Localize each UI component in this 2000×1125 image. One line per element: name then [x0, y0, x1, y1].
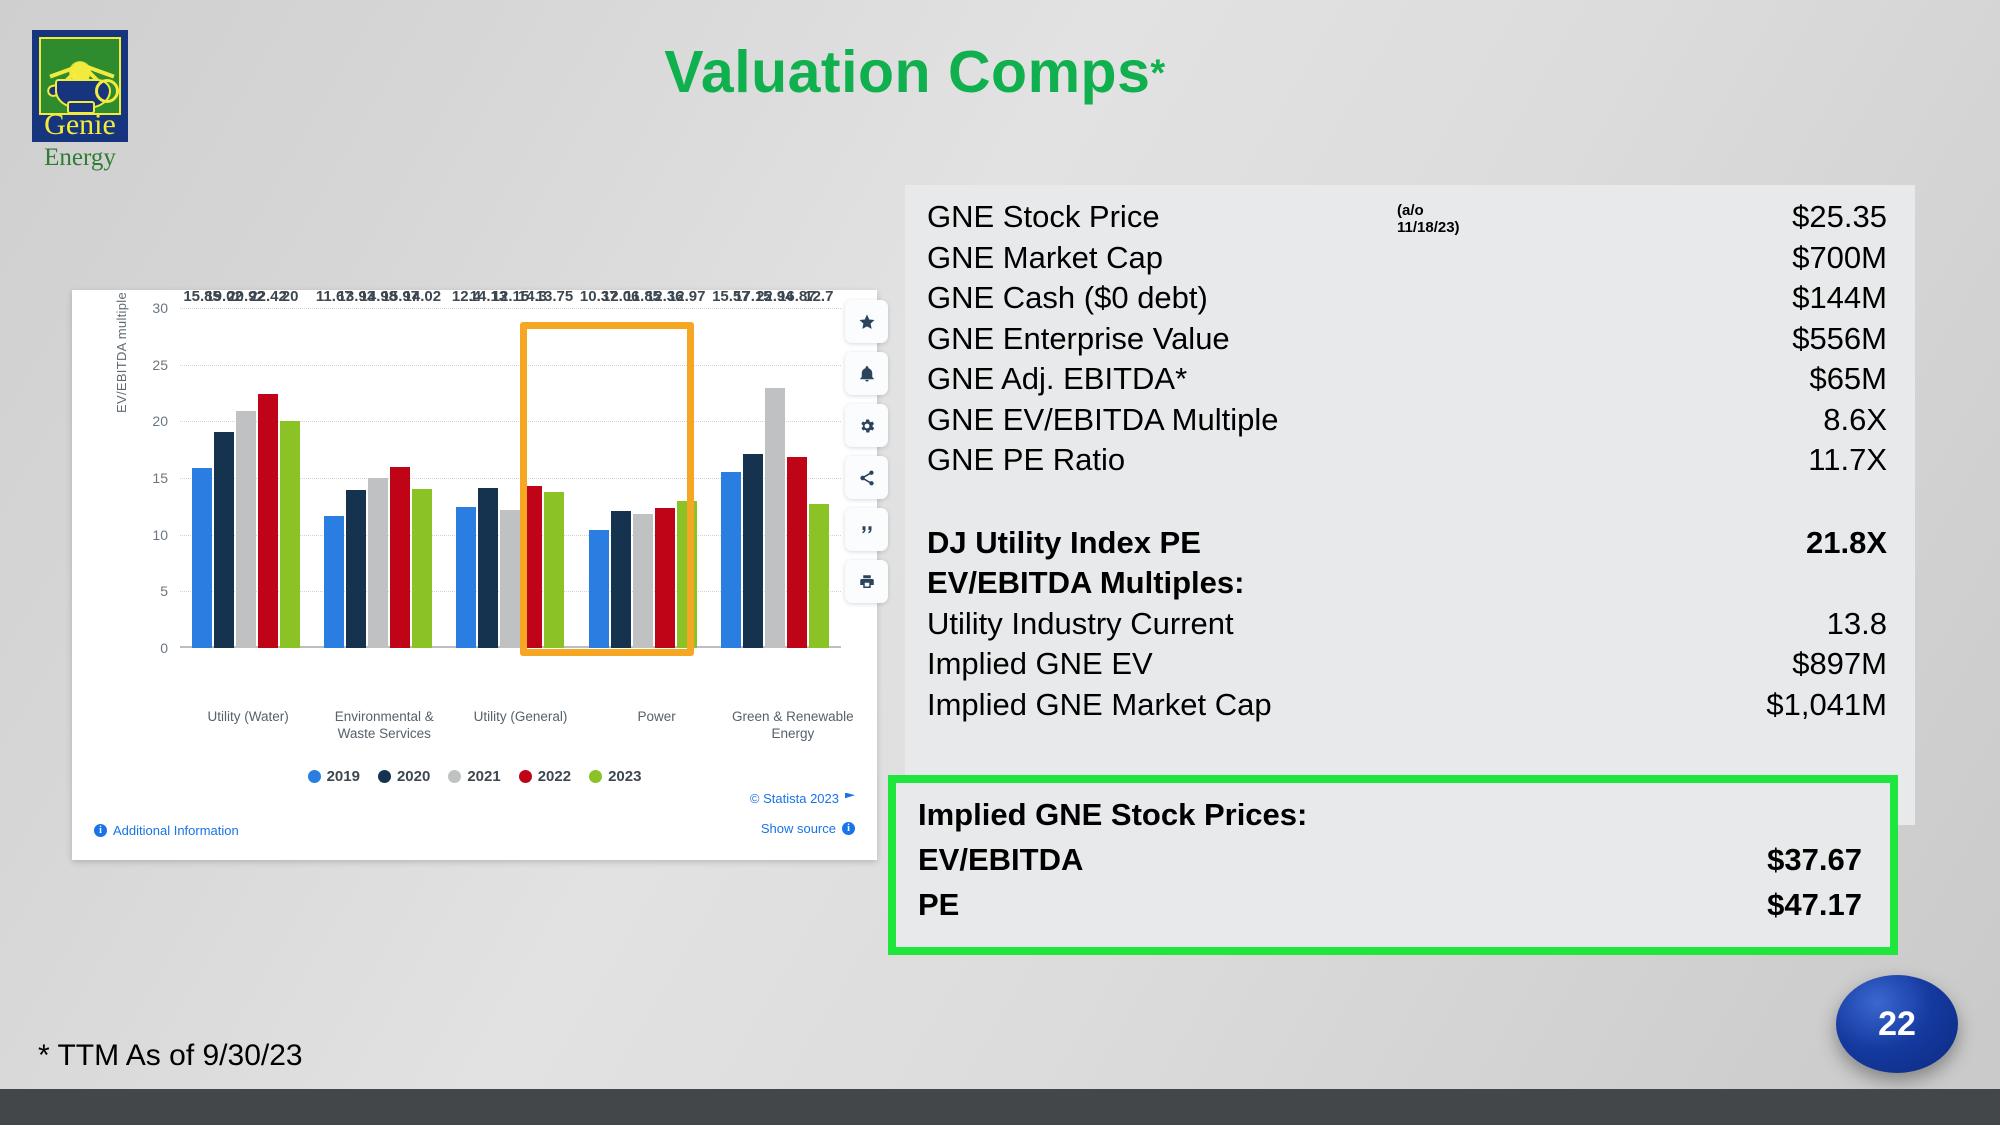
implied-price-value: $37.67 — [1518, 842, 1862, 878]
metric-row: GNE PE Ratio11.7X — [927, 442, 1887, 483]
chart-bar: 12.15 — [500, 308, 520, 648]
chart-bar: 11.85 — [633, 308, 653, 648]
chart-bar: 20 — [280, 308, 300, 648]
metric-note — [1397, 361, 1627, 364]
bell-icon-button[interactable] — [845, 352, 888, 395]
metric-value: $700M — [1627, 240, 1887, 276]
legend-color-dot — [519, 770, 532, 783]
share-icon-button[interactable] — [845, 456, 888, 499]
chart-legend-item[interactable]: 2021 — [448, 768, 500, 785]
metric-row: Implied GNE Market Cap$1,041M — [927, 687, 1887, 728]
chart-bar-rect — [478, 488, 498, 648]
chart-y-tick: 20 — [152, 413, 168, 429]
metrics-list: GNE Stock Price(a/o11/18/23)$25.35GNE Ma… — [927, 199, 1887, 727]
info-icon: i — [842, 822, 855, 835]
chart-bar: 12.7 — [809, 308, 829, 648]
metric-label: Implied GNE EV — [927, 646, 1397, 682]
metric-row: Implied GNE EV$897M — [927, 646, 1887, 687]
metric-label: GNE Cash ($0 debt) — [927, 280, 1397, 316]
legend-label: 2020 — [397, 768, 430, 785]
metric-value: 21.8X — [1397, 525, 1887, 561]
implied-stock-prices-heading: Implied GNE Stock Prices: — [918, 797, 1518, 833]
metric-label: GNE Adj. EBITDA* — [927, 361, 1397, 397]
metric-row: EV/EBITDA Multiples: — [927, 565, 1887, 606]
chart-bar-value-label: 14.02 — [404, 288, 442, 305]
slide-footnote: * TTM As of 9/30/23 — [38, 1039, 303, 1073]
chart-bar-value-label: 12.7 — [804, 288, 833, 305]
page-number-badge: 22 — [1836, 975, 1958, 1073]
chart-legend-item[interactable]: 2023 — [589, 768, 641, 785]
page-title-text: Valuation Comps — [664, 39, 1150, 105]
chart-bar-rect — [324, 516, 344, 648]
chart-bar: 19.02 — [214, 308, 234, 648]
chart-bar-value-label: 12.97 — [668, 288, 706, 305]
metric-value: $897M — [1397, 646, 1887, 682]
chart-bar: 14.13 — [478, 308, 498, 648]
chart-y-tick: 5 — [160, 583, 168, 599]
chart-bar: 13.75 — [544, 308, 564, 648]
chart-bar: 15.57 — [721, 308, 741, 648]
metric-label: DJ Utility Index PE — [927, 525, 1397, 561]
metric-label: EV/EBITDA Multiples: — [927, 565, 1397, 601]
page-number-text: 22 — [1878, 1005, 1916, 1044]
chart-toolbar — [845, 300, 888, 603]
metric-label: GNE Enterprise Value — [927, 321, 1397, 357]
chart-bar: 10.37 — [589, 308, 609, 648]
legend-label: 2021 — [467, 768, 500, 785]
chart-bars: 15.8519.0220.9222.422011.6713.9314.9815.… — [180, 308, 841, 648]
additional-information-label: Additional Information — [113, 823, 239, 838]
chart-legend-item[interactable]: 2019 — [308, 768, 360, 785]
chart-bar-group: 15.8519.0220.9222.4220 — [192, 308, 300, 648]
chart-bar-rect — [677, 501, 697, 648]
implied-stock-prices-rows: Implied GNE Stock Prices: EV/EBITDA$37.6… — [918, 797, 1862, 932]
legend-label: 2019 — [327, 768, 360, 785]
legend-label: 2022 — [538, 768, 571, 785]
chart-bar: 14.02 — [412, 308, 432, 648]
metric-row: GNE Market Cap$700M — [927, 240, 1887, 281]
chart-bar-rect — [500, 510, 520, 648]
title-asterisk: * — [1150, 53, 1165, 95]
chart-bar-rect — [346, 490, 366, 648]
chart-bar: 16.87 — [787, 308, 807, 648]
metric-note — [1397, 280, 1627, 283]
chart-plot-area: EV/EBITDA multiple 051015202530 15.8519.… — [102, 308, 857, 698]
chart-bar: 12.06 — [611, 308, 631, 648]
implied-price-label: PE — [918, 887, 1518, 923]
quote-icon — [858, 521, 876, 539]
metric-note — [1397, 402, 1627, 405]
logo-subtitle: Energy — [32, 144, 128, 172]
legend-color-dot — [448, 770, 461, 783]
chart-bar-rect — [611, 511, 631, 648]
chart-y-ticks: 051015202530 — [140, 308, 174, 648]
info-icon: i — [94, 824, 107, 837]
metric-row: GNE Enterprise Value$556M — [927, 321, 1887, 362]
metric-row: GNE EV/EBITDA Multiple8.6X — [927, 402, 1887, 443]
chart-bar: 14.98 — [368, 308, 388, 648]
chart-bar-rect — [214, 432, 234, 648]
slide-root: Genie Energy Valuation Comps* EV/EBITDA … — [0, 0, 2000, 1125]
star-icon — [858, 313, 876, 331]
chart-y-tick: 30 — [152, 300, 168, 316]
chart-bar-group: 11.6713.9314.9815.9714.02 — [324, 308, 432, 648]
chart-bar-rect — [743, 454, 763, 648]
chart-bar: 17.15 — [743, 308, 763, 648]
chart-bar-value-label: 20 — [282, 288, 299, 305]
chart-bar-rect — [589, 530, 609, 648]
chart-bar-rect — [258, 394, 278, 648]
chart-bar: 22.42 — [258, 308, 278, 648]
chart-x-labels: Utility (Water)Environmental & Waste Ser… — [180, 708, 861, 742]
print-icon — [858, 573, 876, 591]
metric-row: GNE Adj. EBITDA*$65M — [927, 361, 1887, 402]
metric-value: $556M — [1627, 321, 1887, 357]
chart-y-tick: 0 — [160, 640, 168, 656]
chart-bar: 14.3 — [522, 308, 542, 648]
quote-icon-button[interactable] — [845, 508, 888, 551]
print-icon-button[interactable] — [845, 560, 888, 603]
chart-bar-value-label: 13.75 — [536, 288, 574, 305]
metric-label: Utility Industry Current — [927, 606, 1397, 642]
chart-bar: 13.93 — [346, 308, 366, 648]
metric-row: GNE Cash ($0 debt)$144M — [927, 280, 1887, 321]
bell-icon — [858, 365, 876, 383]
valuation-metrics-panel: GNE Stock Price(a/o11/18/23)$25.35GNE Ma… — [905, 185, 1915, 825]
metric-value: $1,041M — [1397, 687, 1887, 723]
chart-legend-item[interactable]: 2022 — [519, 768, 571, 785]
footer-band — [0, 1089, 2000, 1125]
chart-y-axis-label: EV/EBITDA multiple — [114, 292, 129, 413]
chart-bar-group: 12.414.1312.1514.313.75 — [456, 308, 564, 648]
statista-chart-card: EV/EBITDA multiple 051015202530 15.8519.… — [72, 290, 877, 860]
metric-label: GNE PE Ratio — [927, 442, 1397, 478]
chart-bar-rect — [655, 508, 675, 648]
implied-price-row: PE$47.17 — [918, 887, 1862, 932]
legend-color-dot — [308, 770, 321, 783]
metric-label: GNE EV/EBITDA Multiple — [927, 402, 1397, 438]
chart-bar-rect — [765, 388, 785, 648]
chart-bar: 12.4 — [456, 308, 476, 648]
metric-note — [1397, 442, 1627, 445]
chart-x-label: Green & Renewable Energy — [727, 708, 859, 742]
logo-wordmark: Genie — [32, 110, 128, 140]
page-title: Valuation Comps* — [0, 38, 2000, 106]
legend-color-dot — [378, 770, 391, 783]
implied-price-value: $47.17 — [1518, 887, 1862, 923]
legend-label: 2023 — [608, 768, 641, 785]
chart-legend-item[interactable]: 2020 — [378, 768, 430, 785]
chart-bar-rect — [456, 507, 476, 648]
chart-x-label: Power — [591, 708, 723, 742]
chart-bar: 11.67 — [324, 308, 344, 648]
chart-bar: 12.97 — [677, 308, 697, 648]
statista-copyright: © Statista 2023 — [750, 791, 855, 806]
chart-x-label: Utility (Water) — [182, 708, 314, 742]
star-icon-button[interactable] — [845, 300, 888, 343]
metrics-spacer — [927, 483, 1887, 525]
chart-bar-rect — [390, 467, 410, 648]
metric-value: $144M — [1627, 280, 1887, 316]
chart-y-tick: 25 — [152, 357, 168, 373]
metric-label: GNE Stock Price — [927, 199, 1397, 235]
metric-row: Utility Industry Current13.8 — [927, 606, 1887, 647]
chart-bar: 22.94 — [765, 308, 785, 648]
chart-bar-group: 15.5717.1522.9416.8712.7 — [721, 308, 829, 648]
show-source-link[interactable]: Show source i — [761, 821, 855, 836]
flag-icon — [845, 793, 855, 805]
implied-stock-prices-heading-row: Implied GNE Stock Prices: — [918, 797, 1862, 842]
chart-bar: 20.92 — [236, 308, 256, 648]
chart-bar-group: 10.3712.0611.8512.3612.97 — [589, 308, 697, 648]
metric-value: $65M — [1627, 361, 1887, 397]
metric-note — [1397, 321, 1627, 324]
metric-value: 8.6X — [1627, 402, 1887, 438]
chart-bar-rect — [633, 514, 653, 648]
chart-bar-rect — [280, 421, 300, 648]
chart-bar-rect — [522, 486, 542, 648]
implied-price-label: EV/EBITDA — [918, 842, 1518, 878]
chart-y-tick: 15 — [152, 470, 168, 486]
metric-value: $25.35 — [1627, 199, 1887, 235]
metric-value: 11.7X — [1627, 442, 1887, 478]
metric-row: DJ Utility Index PE21.8X — [927, 525, 1887, 566]
show-source-label: Show source — [761, 821, 836, 836]
chart-x-label: Utility (General) — [454, 708, 586, 742]
gear-icon-button[interactable] — [845, 404, 888, 447]
metric-value: 13.8 — [1397, 606, 1887, 642]
chart-bar-rect — [721, 472, 741, 648]
chart-bar: 12.36 — [655, 308, 675, 648]
chart-bar-rect — [368, 478, 388, 648]
share-icon — [858, 469, 876, 487]
chart-bar: 15.97 — [390, 308, 410, 648]
additional-information-link[interactable]: i Additional Information — [94, 823, 239, 838]
chart-bar-rect — [192, 468, 212, 648]
metric-label: GNE Market Cap — [927, 240, 1397, 276]
metric-row: GNE Stock Price(a/o11/18/23)$25.35 — [927, 199, 1887, 240]
legend-color-dot — [589, 770, 602, 783]
metric-note — [1397, 240, 1627, 243]
chart-bar-rect — [787, 457, 807, 648]
chart-bar: 15.85 — [192, 308, 212, 648]
gear-icon — [858, 417, 876, 435]
statista-copyright-label: © Statista 2023 — [750, 791, 839, 806]
chart-y-tick: 10 — [152, 527, 168, 543]
chart-bar-rect — [809, 504, 829, 648]
metric-label: Implied GNE Market Cap — [927, 687, 1397, 723]
chart-bar-rect — [412, 489, 432, 648]
implied-stock-prices-box: Implied GNE Stock Prices: EV/EBITDA$37.6… — [888, 775, 1898, 955]
implied-price-row: EV/EBITDA$37.67 — [918, 842, 1862, 887]
chart-legend: 20192020202120222023 — [72, 768, 877, 785]
metric-note: (a/o11/18/23) — [1397, 199, 1627, 236]
chart-bar-rect — [544, 492, 564, 648]
chart-bar-rect — [236, 411, 256, 648]
chart-x-label: Environmental & Waste Services — [318, 708, 450, 742]
